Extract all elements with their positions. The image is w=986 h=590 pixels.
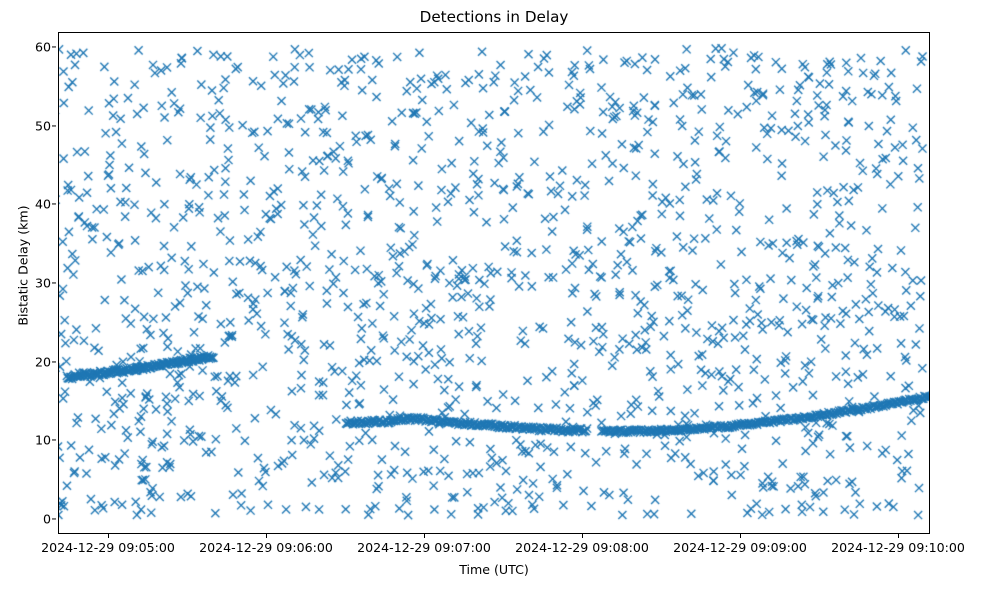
x-tick-label: 2024-12-29 09:08:00 xyxy=(515,540,649,555)
x-tick-mark xyxy=(266,534,267,538)
x-tick-mark xyxy=(582,534,583,538)
x-tick-label: 2024-12-29 09:05:00 xyxy=(41,540,175,555)
matplotlib-figure: Detections in Delay Bistatic Delay (km) … xyxy=(0,0,986,590)
x-tick-mark xyxy=(108,534,109,538)
x-tick-label: 2024-12-29 09:07:00 xyxy=(357,540,491,555)
x-axis-label: Time (UTC) xyxy=(58,562,930,577)
x-tick-mark xyxy=(898,534,899,538)
x-tick-label: 2024-12-29 09:06:00 xyxy=(199,540,333,555)
x-tick-mark xyxy=(740,534,741,538)
x-axis-ticks: 2024-12-29 09:05:002024-12-29 09:06:0020… xyxy=(0,0,986,590)
x-tick-mark xyxy=(424,534,425,538)
x-tick-label: 2024-12-29 09:09:00 xyxy=(673,540,807,555)
x-tick-label: 2024-12-29 09:10:00 xyxy=(831,540,965,555)
